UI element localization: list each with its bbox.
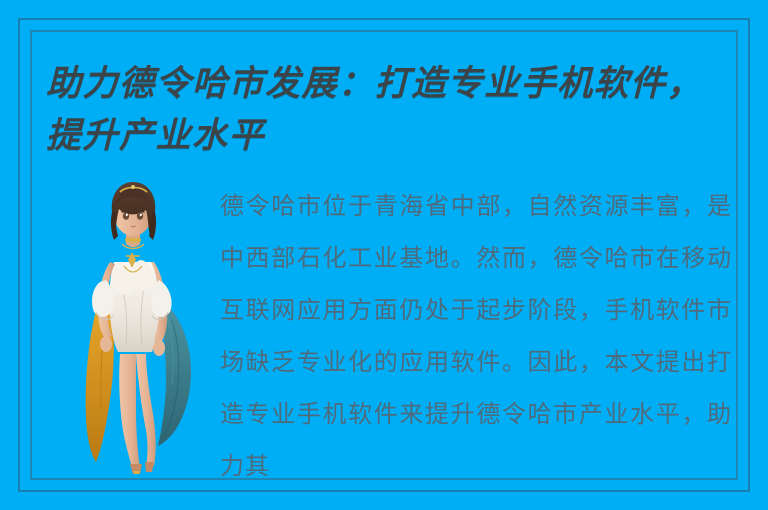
poster-canvas: 助力德令哈市发展：打造专业手机软件，提升产业水平: [0, 0, 768, 510]
body-paragraph: 德令哈市位于青海省中部，自然资源丰富，是中西部石化工业基地。然而，德令哈市在移动…: [220, 180, 732, 492]
anime-woman-illustration: [62, 178, 204, 474]
page-title: 助力德令哈市发展：打造专业手机软件，提升产业水平: [46, 58, 736, 162]
